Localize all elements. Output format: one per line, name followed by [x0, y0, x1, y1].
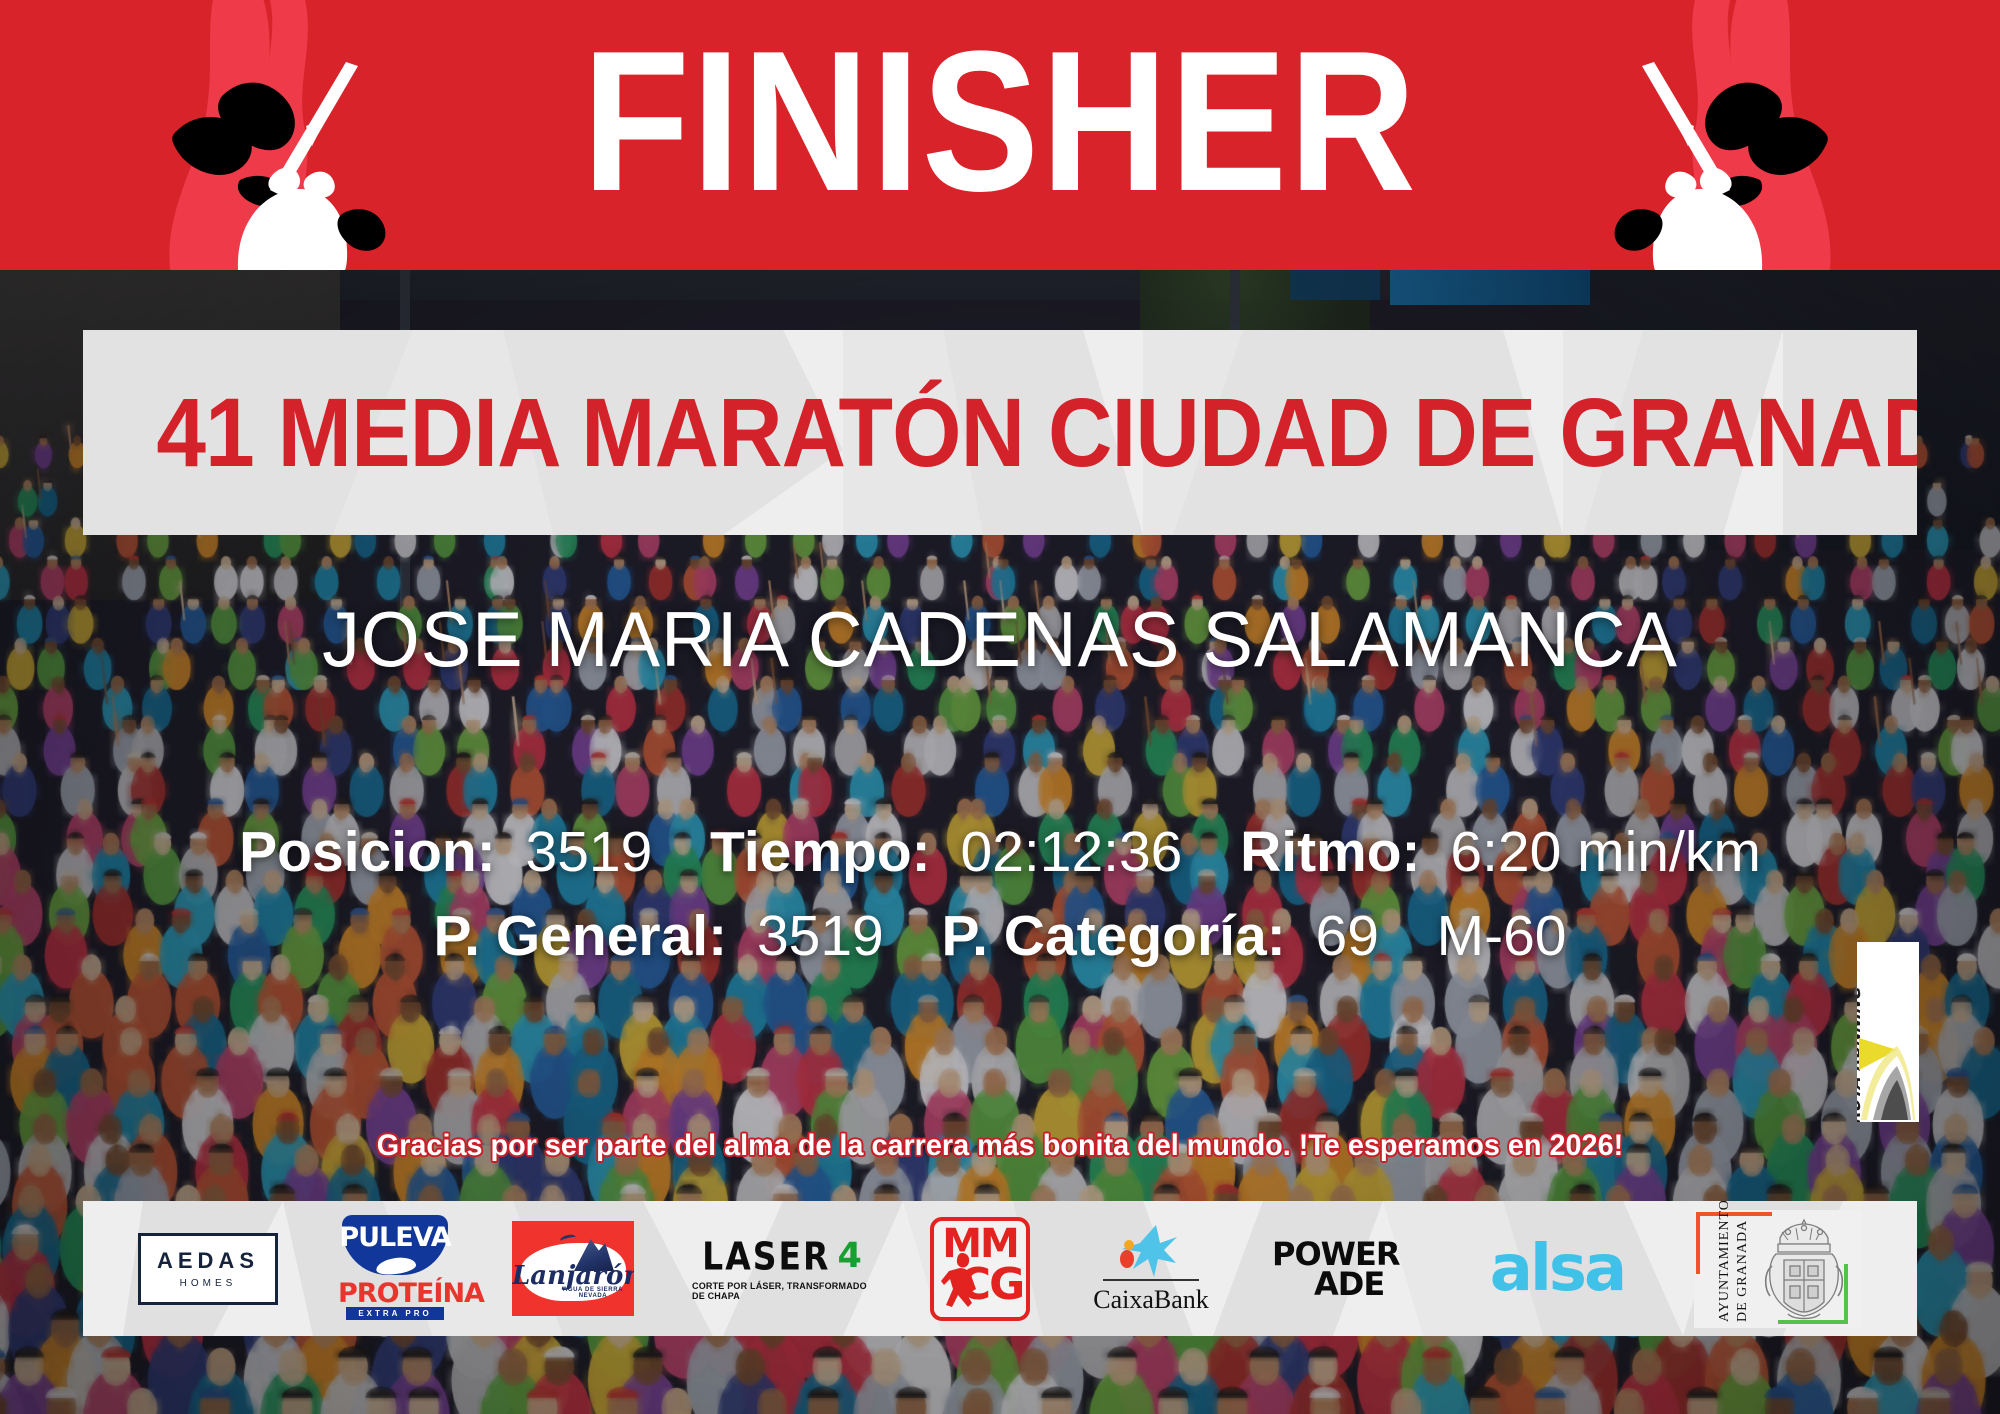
sponsor-logo-laser4: LASER 4 CORTE POR LÁSER, TRANSFORMADO DE… — [692, 1233, 872, 1305]
rfea-series-badge: RFEA SERIES RUTA RUNNING — [1857, 942, 1919, 1122]
general-position-value: 3519 — [757, 904, 884, 968]
aedas-subtitle: HOMES — [180, 1278, 237, 1289]
event-title-band: 41 MEDIA MARATÓN CIUDAD DE GRANADA — [83, 330, 1917, 535]
category-code: M-60 — [1437, 904, 1567, 968]
sponsor-logo-ayuntamiento-granada: AYUNTAMIENTO DE GRANADA — [1694, 1210, 1862, 1328]
finisher-title: FINISHER — [120, 22, 1880, 222]
thank-you-message: Gracias por ser parte del alma de la car… — [40, 1126, 1960, 1166]
general-position-label: P. General: — [434, 904, 728, 968]
laser-wordmark: LASER — [702, 1234, 830, 1279]
pace-label: Ritmo: — [1240, 820, 1420, 884]
aedas-wordmark: AEDAS — [157, 1248, 259, 1274]
powerade-wordmark-bottom: ADE — [1314, 1269, 1384, 1299]
finisher-header-banner: FINISHER — [0, 0, 2000, 270]
puleva-wordmark: PULEVA — [339, 1222, 450, 1253]
sponsor-logo-aedas-homes: AEDAS HOMES — [138, 1233, 278, 1305]
sponsor-logo-alsa: alsa — [1478, 1234, 1636, 1304]
powerade-wordmark-top: POWER — [1272, 1239, 1399, 1269]
time-value: 02:12:36 — [961, 820, 1183, 884]
ayuntamiento-wordmark: AYUNTAMIENTO DE GRANADA — [1716, 1218, 1752, 1322]
laser-badge-number: 4 — [837, 1236, 861, 1276]
granada-coat-of-arms-icon — [1758, 1216, 1850, 1322]
event-title: 41 MEDIA MARATÓN CIUDAD DE GRANADA — [156, 383, 1843, 483]
results-row-2: P. General: 3519 P. Categoría: 69 M-60 — [0, 894, 2000, 978]
alsa-wordmark: alsa — [1478, 1234, 1636, 1304]
finisher-certificate: FINISHER 41 MEDIA MARATÓN CIUDA — [0, 0, 2000, 1414]
runner-silhouette-icon — [940, 1251, 980, 1317]
sponsor-logo-mmcg: MM CG — [930, 1217, 1030, 1321]
sponsor-logo-lanjaron: Lanjarón AGUA DE SIERRA NEVADA — [512, 1221, 634, 1316]
laser-tagline: CORTE POR LÁSER, TRANSFORMADO DE CHAPA — [692, 1281, 872, 1301]
sponsor-logo-caixabank: CaixaBank — [1088, 1223, 1214, 1315]
sponsor-band: AEDAS HOMES PULEVA PROTEÍNA EXTRA PRO — [83, 1201, 1917, 1336]
caixabank-star-icon — [1116, 1225, 1178, 1277]
puleva-tagline: EXTRA PRO — [346, 1307, 444, 1320]
position-label: Posicion: — [239, 820, 496, 884]
runner-name: JOSE MARIA CADENAS SALAMANCA — [30, 594, 1970, 684]
category-position-value: 69 — [1316, 904, 1379, 968]
position-value: 3519 — [526, 820, 653, 884]
category-position-label: P. Categoría: — [941, 904, 1285, 968]
caixabank-wordmark: CaixaBank — [1093, 1285, 1209, 1315]
pace-value: 6:20 min/km — [1450, 820, 1760, 884]
sponsor-logo-puleva: PULEVA PROTEÍNA EXTRA PRO — [336, 1215, 454, 1323]
lanjaron-subtitle: AGUA DE SIERRA NEVADA — [560, 1287, 626, 1299]
results-block: Posicion: 3519 Tiempo: 02:12:36 Ritmo: 6… — [0, 810, 2000, 978]
results-row-1: Posicion: 3519 Tiempo: 02:12:36 Ritmo: 6… — [0, 810, 2000, 894]
sponsor-logo-powerade: POWER ADE — [1272, 1236, 1420, 1302]
puleva-proteina-wordmark: PROTEÍNA — [338, 1278, 452, 1309]
time-label: Tiempo: — [710, 820, 931, 884]
